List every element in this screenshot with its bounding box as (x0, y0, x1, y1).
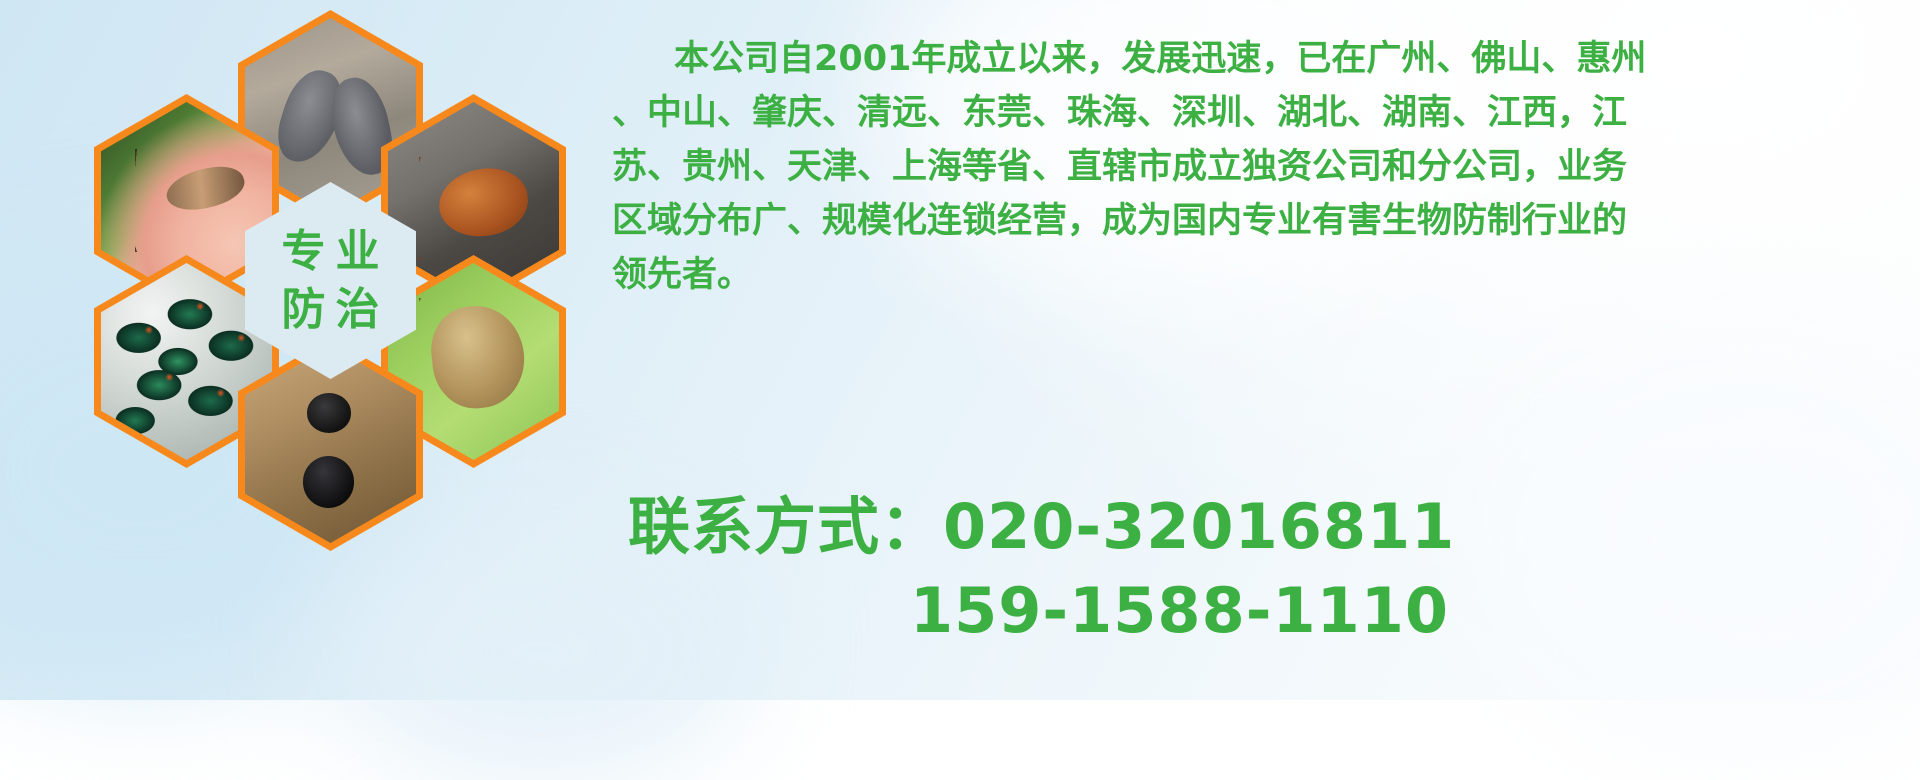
intro-line-4: 区域分布广、规模化连锁经营，成为国内专业有害生物防制行业的 (612, 194, 1904, 248)
intro-line-2: 、中山、肇庆、清远、东莞、珠海、深圳、湖北、湖南、江西，江 (612, 86, 1904, 140)
badge-label-line1: 专业 (272, 230, 390, 274)
intro-paragraph: 本公司自2001年成立以来，发展迅速，已在广州、佛山、惠州 、中山、肇庆、清远、… (612, 32, 1904, 302)
honeycomb-photo-cluster: 专业 防治 (78, 0, 598, 562)
badge-label: 专业 防治 (245, 182, 416, 379)
intro-line-5: 领先者。 (612, 248, 1904, 302)
promo-banner: 专业 防治 本公司自2001年成立以来，发展迅速，已在广州、佛山、惠州 、中山、… (0, 0, 1920, 700)
contact-mobile[interactable]: 159-1588-1110 (628, 569, 1455, 653)
contact-block: 联系方式：020-32016811 159-1588-1110 (628, 485, 1455, 653)
badge-label-line2: 防治 (272, 288, 390, 332)
background-blob-4 (1480, 330, 1920, 750)
hex-center-badge-frame: 专业 防治 (245, 182, 416, 379)
contact-landline[interactable]: 联系方式：020-32016811 (628, 485, 1455, 569)
intro-line-3: 苏、贵州、天津、上海等省、直辖市成立独资公司和分公司，业务 (612, 140, 1904, 194)
intro-line-1: 本公司自2001年成立以来，发展迅速，已在广州、佛山、惠州 (612, 32, 1904, 86)
